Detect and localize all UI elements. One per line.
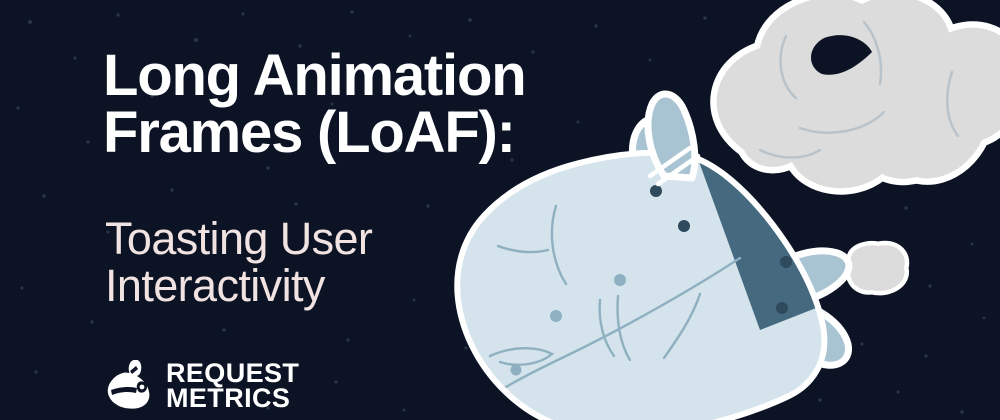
rocket-icon — [103, 360, 157, 412]
request-metrics-logo[interactable]: REQUEST METRICS — [103, 360, 299, 412]
logo-line-2: METRICS — [166, 386, 299, 411]
banner: Long Animation Frames (LoAF): Toasting U… — [0, 0, 1000, 420]
page-subtitle: Toasting User Interactivity — [105, 216, 372, 310]
page-title: Long Animation Frames (LoAF): — [103, 47, 525, 162]
text-content: Long Animation Frames (LoAF): Toasting U… — [0, 0, 1000, 420]
logo-notch-dot — [140, 385, 145, 390]
logo-wordmark: REQUEST METRICS — [166, 361, 299, 411]
